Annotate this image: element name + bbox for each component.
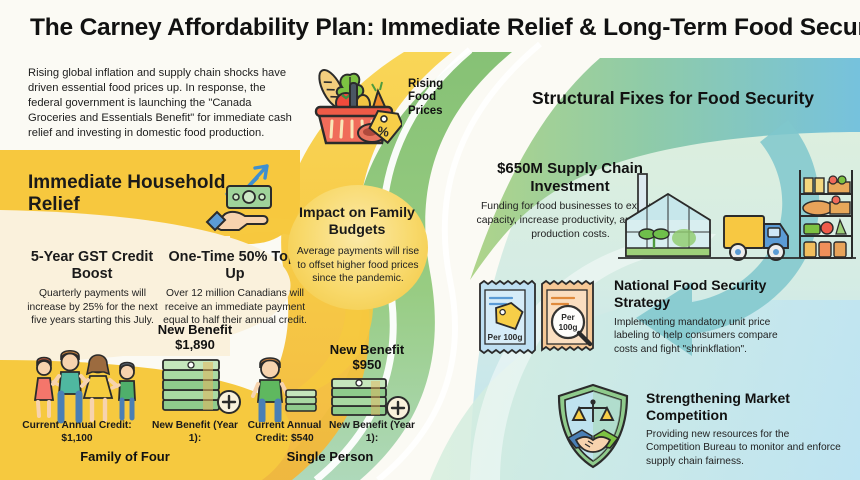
family-new-benefit-label: New Benefit: [158, 322, 232, 337]
single-person-illustration: [248, 356, 320, 427]
single-group-label: Single Person: [245, 449, 415, 464]
svg-text:100g: 100g: [558, 322, 577, 332]
family-current-credit-caption: Current Annual Credit: $1,100: [18, 420, 136, 446]
impact-body: Average payments will rise to offset hig…: [292, 245, 424, 286]
family-new-benefit-caption: New Benefit (Year 1):: [145, 420, 245, 446]
family-group-label: Family of Four: [30, 449, 220, 464]
grocery-basket-icon: %: [306, 55, 402, 151]
competition-shield-icon: [552, 382, 634, 475]
intro-paragraph: Rising global inflation and supply chain…: [28, 66, 300, 140]
topup-card-heading: One-Time 50% Top-Up: [165, 249, 305, 283]
family-of-four-illustration: [28, 348, 153, 431]
single-new-benefit-label: New Benefit: [330, 342, 404, 357]
hand-holding-money-icon: [205, 160, 297, 238]
single-new-benefit-caption: New Benefit (Year 1):: [322, 420, 422, 446]
single-new-benefit-amount: New Benefit $950: [312, 342, 422, 373]
market-competition-heading: Strengthening Market Competition: [646, 390, 846, 424]
national-strategy-heading: National Food Security Strategy: [614, 277, 794, 311]
national-strategy-body: Implementing mandatory unit price labeli…: [614, 316, 794, 356]
structural-fixes-heading: Structural Fixes for Food Security: [498, 88, 848, 109]
infographic-canvas: The Carney Affordability Plan: Immediate…: [0, 0, 860, 480]
package-tag-label: Per 100g: [488, 332, 523, 342]
single-new-benefit-value: $950: [353, 357, 382, 372]
family-new-benefit-value: $1,890: [175, 337, 215, 352]
family-new-benefit-amount: New Benefit $1,890: [140, 322, 250, 353]
gst-card-heading: 5-Year GST Credit Boost: [22, 249, 162, 283]
impact-heading: Impact on Family Budgets: [292, 205, 422, 238]
page-title: The Carney Affordability Plan: Immediate…: [30, 14, 830, 42]
svg-text:Per: Per: [561, 312, 575, 322]
market-competition-body: Providing new resources for the Competit…: [646, 428, 846, 468]
family-cash-stack-illustration: [155, 356, 245, 427]
rising-food-prices-label: Rising Food Prices: [408, 78, 468, 118]
unit-price-packages-illustration: Per 100g Per 100g: [474, 278, 604, 365]
supply-chain-illustration: [616, 166, 856, 275]
